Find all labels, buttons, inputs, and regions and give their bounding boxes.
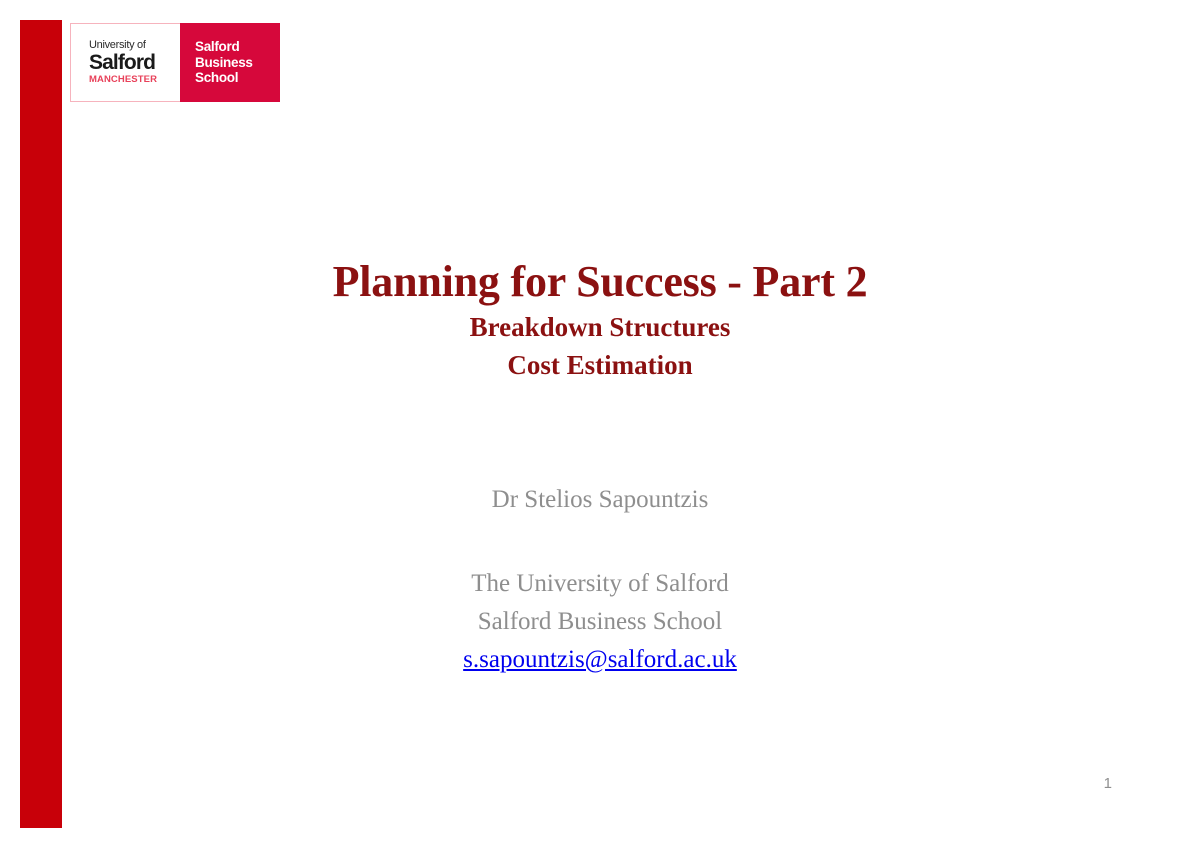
affiliation-university: The University of Salford (0, 565, 1200, 603)
logo-brand-text: Salford (89, 52, 180, 74)
subtitle-line-1: Breakdown Structures (0, 310, 1200, 345)
spacer (0, 517, 1200, 565)
page-number: 1 (1104, 775, 1112, 792)
logo-school-line-2: Business (195, 55, 280, 71)
logo-school-line-1: Salford (195, 39, 280, 55)
business-school-logo-panel: Salford Business School (180, 23, 280, 102)
logo-location-text: MANCHESTER (89, 74, 180, 85)
page-title: Planning for Success - Part 2 (0, 258, 1200, 306)
salford-logo: University of Salford MANCHESTER Salford… (70, 23, 280, 102)
email-link[interactable]: s.sapountzis@salford.ac.uk (0, 641, 1200, 679)
presenter-name: Dr Stelios Sapountzis (0, 484, 1200, 517)
logo-school-line-3: School (195, 70, 280, 86)
affiliation-school: Salford Business School (0, 603, 1200, 641)
title-block: Planning for Success - Part 2 Breakdown … (0, 258, 1200, 383)
presenter-block: Dr Stelios Sapountzis The University of … (0, 484, 1200, 679)
university-logo-panel: University of Salford MANCHESTER (70, 23, 180, 102)
subtitle-line-2: Cost Estimation (0, 348, 1200, 383)
presentation-slide: University of Salford MANCHESTER Salford… (0, 0, 1200, 848)
logo-university-text: University of (89, 40, 180, 52)
left-accent-bar (20, 20, 62, 828)
